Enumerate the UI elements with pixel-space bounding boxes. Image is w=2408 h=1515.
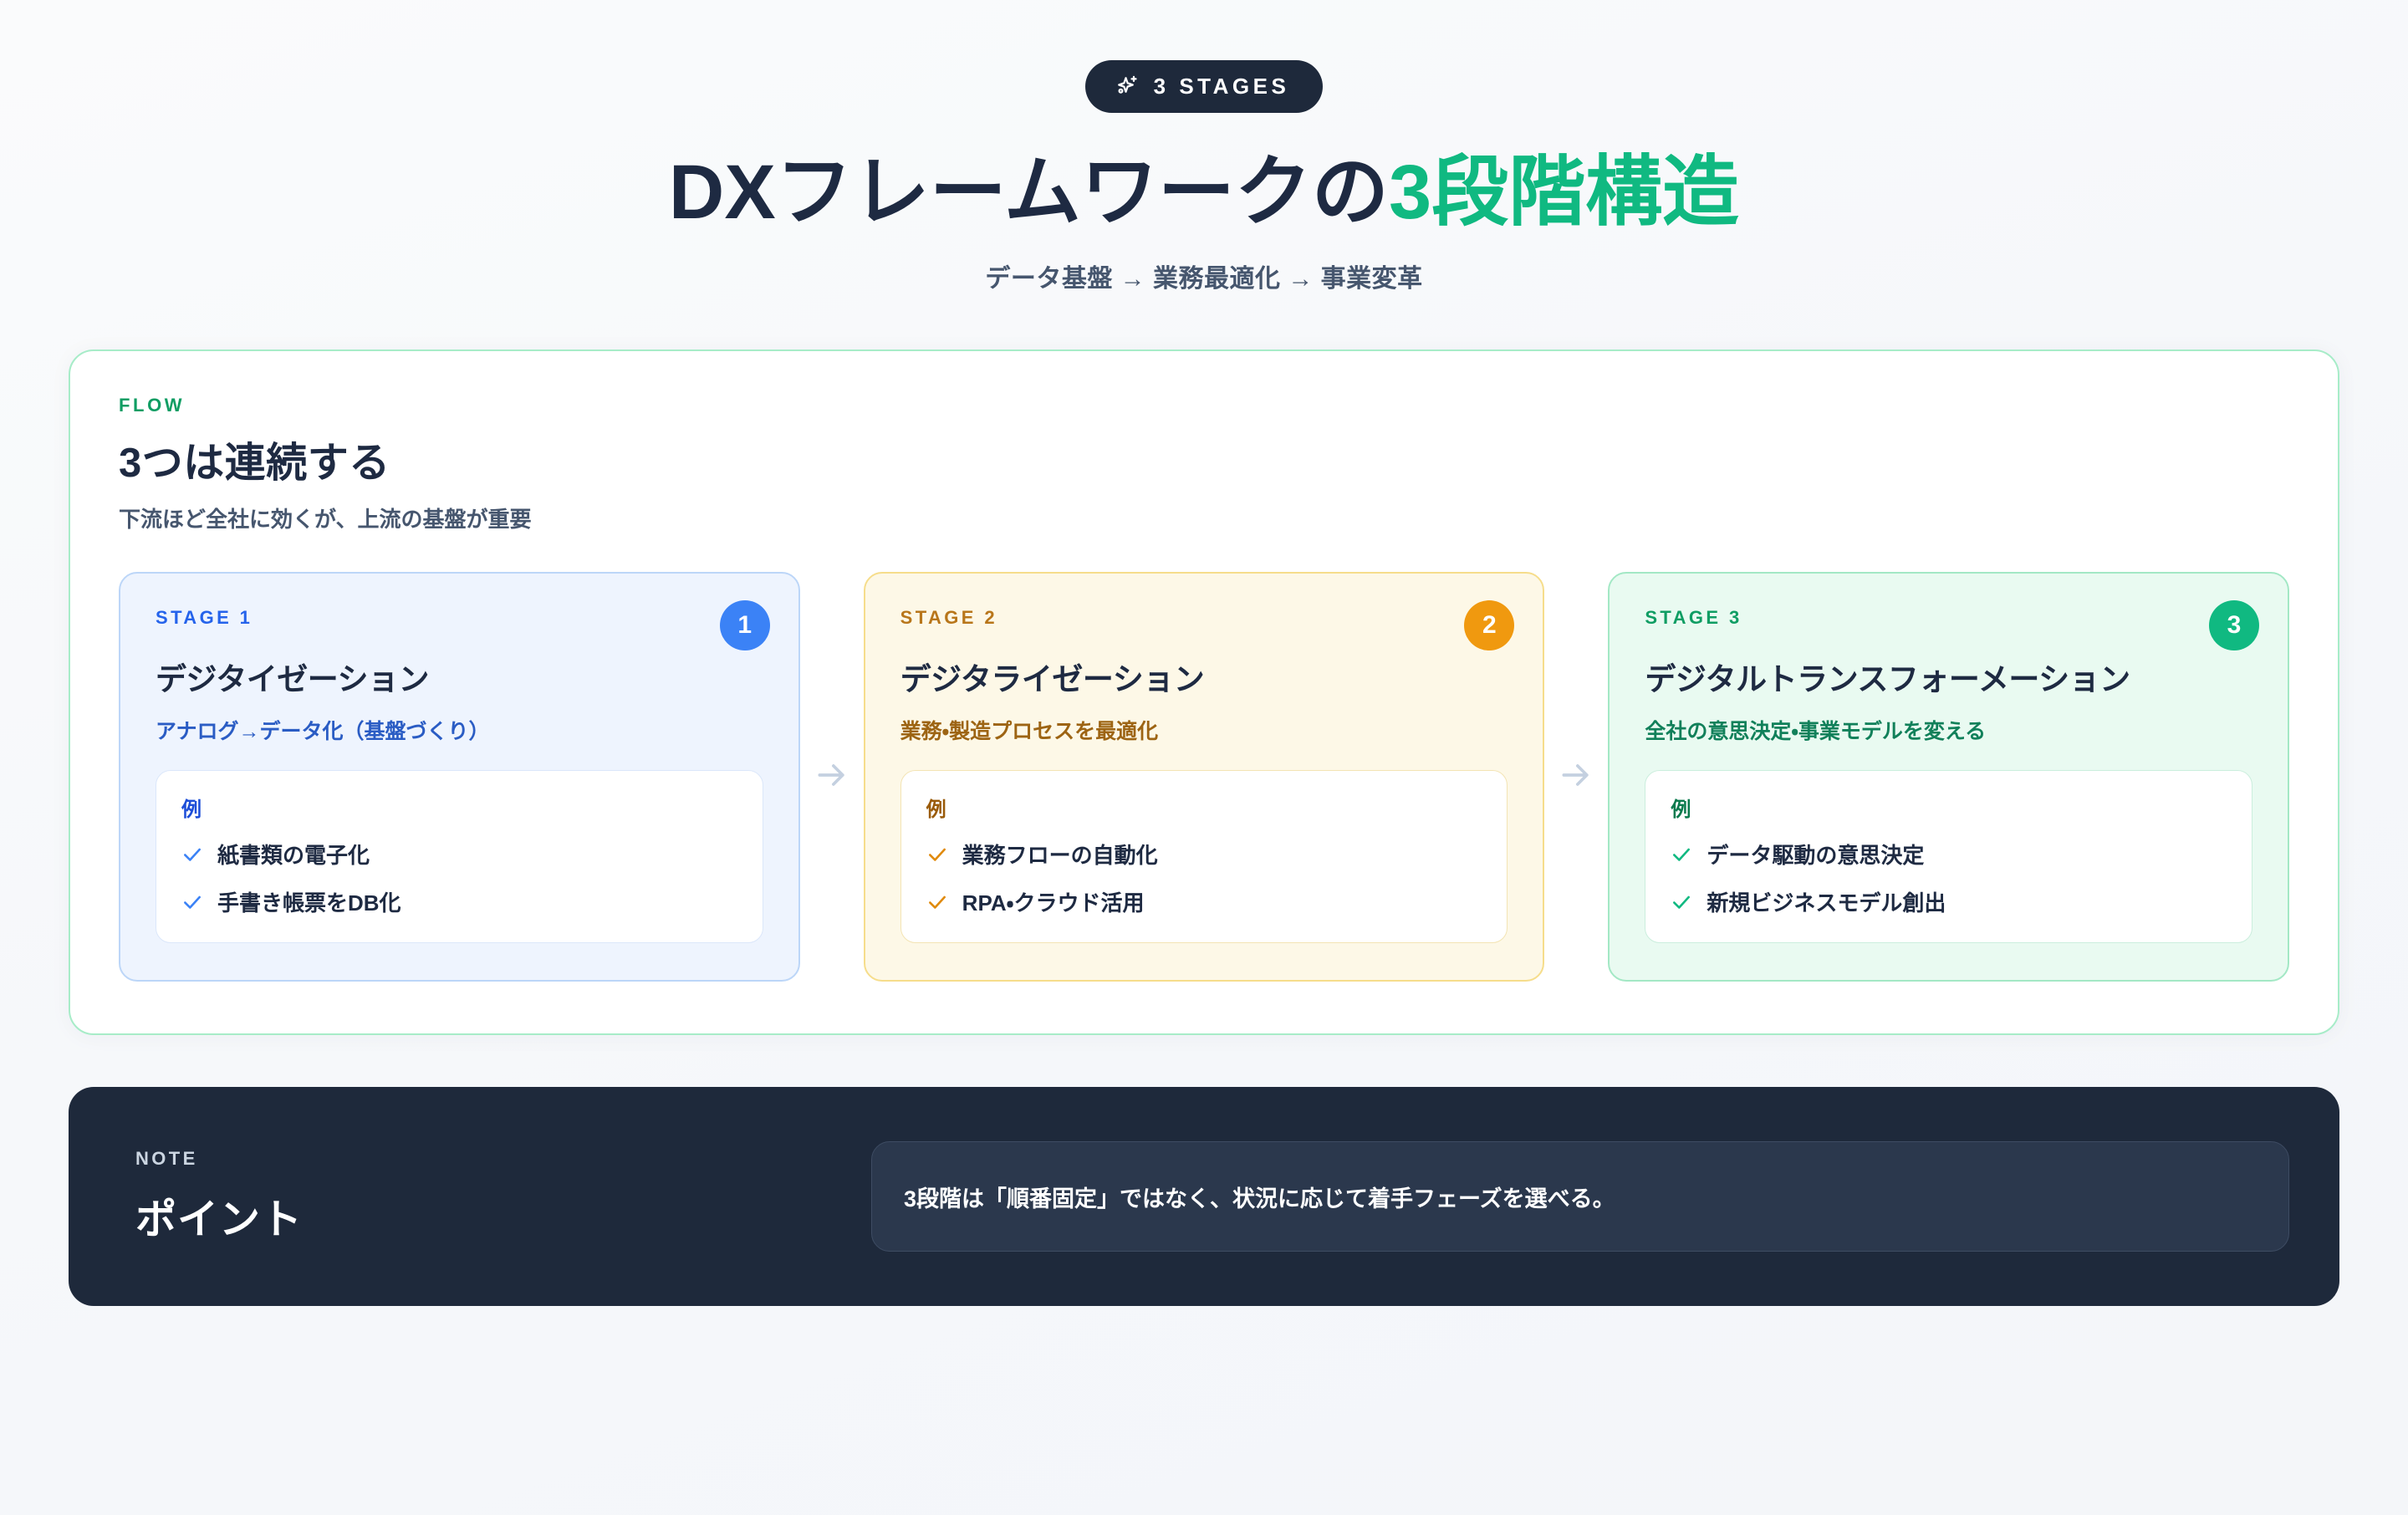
stage-1-title: デジタイゼーション (156, 654, 763, 699)
stage-1-kicker: STAGE 1 (156, 607, 763, 629)
stages-badge-pill: 3 STAGES (1085, 60, 1324, 113)
check-icon (1671, 844, 1692, 865)
stage-2-example-item: 業務フローの自動化 (926, 839, 1482, 870)
stage-2-title: デジタライゼーション (900, 654, 1508, 699)
stage-2-kicker: STAGE 2 (900, 607, 1508, 629)
stage-3-example-text: 新規ビジネスモデル創出 (1707, 886, 1946, 917)
page-title-accent: 3段階構造 (1389, 150, 1739, 235)
stage-2-number-badge: 2 (1464, 600, 1514, 650)
stage-card-1[interactable]: STAGE 1 1 デジタイゼーション アナログ→データ化（基盤づくり） 例 紙… (119, 572, 800, 982)
stage-card-3[interactable]: STAGE 3 3 デジタルトランスフォーメーション 全社の意思決定・事業モデル… (1608, 572, 2289, 982)
stage-3-title: デジタルトランスフォーメーション (1645, 654, 2252, 699)
flow-panel: FLOW 3つは連続する 下流ほど全社に効くが、上流の基盤が重要 STAGE 1… (69, 349, 2339, 1035)
note-panel: NOTE ポイント 3段階は「順番固定」ではなく、状況に応じて着手フェーズを選べ… (69, 1087, 2339, 1306)
stage-3-example-box: 例 データ駆動の意思決定 (1645, 770, 2252, 943)
page-subtitle: データ基盤 → 業務最適化 → 事業変革 (0, 258, 2408, 294)
flow-heading: 3つは連続する (119, 430, 2289, 489)
stage-card-2[interactable]: STAGE 2 2 デジタライゼーション 業務・製造プロセスを最適化 例 業務フ… (864, 572, 1545, 982)
check-icon (181, 844, 203, 865)
page-header: 3 STAGES DXフレームワークの3段階構造 データ基盤 → 業務最適化 →… (0, 0, 2408, 294)
stage-1-number-badge: 1 (720, 600, 770, 650)
stage-1-example-label: 例 (181, 793, 737, 822)
stage-3-example-text: データ駆動の意思決定 (1707, 839, 1924, 870)
stage-3-description: 全社の意思決定・事業モデルを変える (1645, 715, 2252, 745)
stage-2-example-text: RPA・クラウド活用 (962, 886, 1145, 917)
check-icon (181, 891, 203, 913)
sparkles-icon (1115, 74, 1140, 99)
stage-1-description: アナログ→データ化（基盤づくり） (156, 715, 763, 745)
stage-1-example-item: 手書き帳票をDB化 (181, 886, 737, 917)
stage-1-example-box: 例 紙書類の電子化 (156, 770, 763, 943)
stage-row: STAGE 1 1 デジタイゼーション アナログ→データ化（基盤づくり） 例 紙… (119, 572, 2289, 982)
check-icon (926, 891, 948, 913)
note-title: ポイント (135, 1186, 871, 1246)
stage-2-example-item: RPA・クラウド活用 (926, 886, 1482, 917)
stage-2-example-box: 例 業務フローの自動化 (900, 770, 1508, 943)
stage-3-example-item: 新規ビジネスモデル創出 (1671, 886, 2227, 917)
stage-3-number-badge: 3 (2209, 600, 2259, 650)
stage-connector-arrow-2 (1544, 572, 1608, 982)
stage-2-description: 業務・製造プロセスを最適化 (900, 715, 1508, 745)
check-icon (1671, 891, 1692, 913)
stage-2-example-text: 業務フローの自動化 (962, 839, 1158, 870)
stage-connector-arrow-1 (800, 572, 864, 982)
stages-badge-label: 3 STAGES (1154, 75, 1290, 97)
page-title-main: DXフレームワークの (669, 150, 1389, 235)
note-heading-group: NOTE ポイント (119, 1148, 871, 1246)
flow-kicker: FLOW (119, 395, 2289, 416)
infographic-page: 3 STAGES DXフレームワークの3段階構造 データ基盤 → 業務最適化 →… (0, 0, 2408, 1515)
page-title: DXフレームワークの3段階構造 (0, 150, 2408, 236)
stage-3-kicker: STAGE 3 (1645, 607, 2252, 629)
check-icon (926, 844, 948, 865)
stage-2-example-label: 例 (926, 793, 1482, 822)
stage-1-example-text: 手書き帳票をDB化 (217, 886, 401, 917)
arrow-right-icon (1558, 757, 1594, 798)
arrow-right-icon (814, 757, 850, 798)
stage-1-example-text: 紙書類の電子化 (217, 839, 370, 870)
stage-3-example-item: データ駆動の意思決定 (1671, 839, 2227, 870)
stage-3-example-label: 例 (1671, 793, 2227, 822)
flow-subheading: 下流ほど全社に効くが、上流の基盤が重要 (119, 502, 2289, 533)
stage-1-example-item: 紙書類の電子化 (181, 839, 737, 870)
note-body-text: 3段階は「順番固定」ではなく、状況に応じて着手フェーズを選べる。 (871, 1141, 2289, 1252)
note-kicker: NOTE (135, 1148, 871, 1170)
